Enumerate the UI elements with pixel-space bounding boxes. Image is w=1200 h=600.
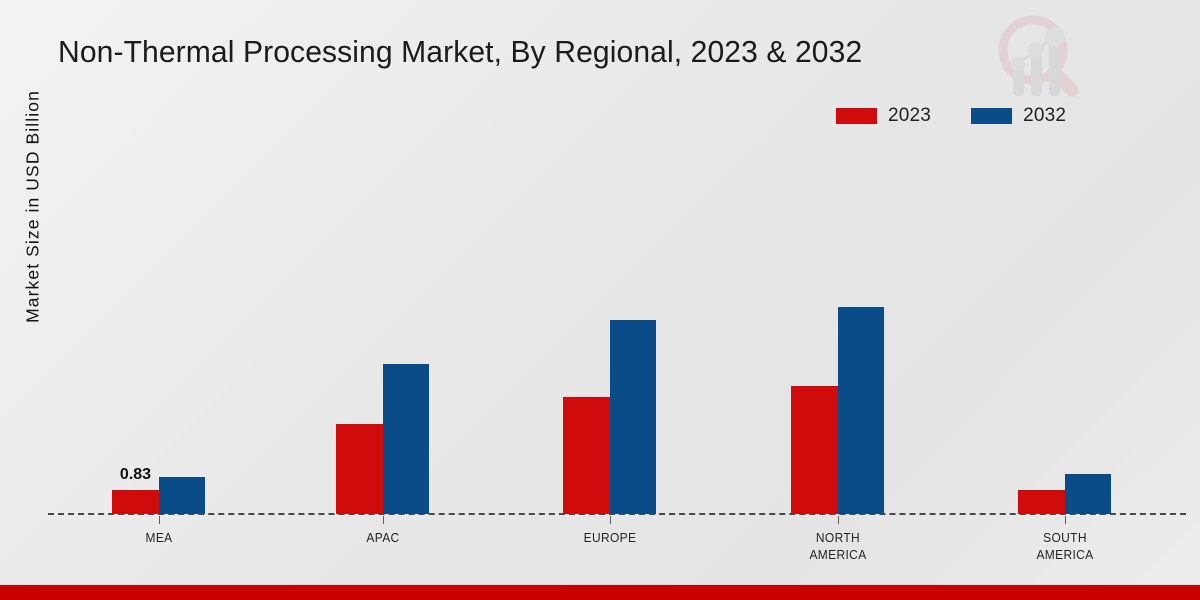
bar-europe-2023[interactable] xyxy=(563,397,610,514)
x-axis-tick xyxy=(1065,516,1066,524)
x-axis-label-line: NORTH xyxy=(764,529,911,546)
bar-south-america-2032[interactable] xyxy=(1065,474,1111,514)
x-axis-tick xyxy=(610,516,611,524)
x-axis-label-line: AMERICA xyxy=(764,546,911,563)
x-axis-label-north-america: NORTHAMERICA xyxy=(764,529,911,563)
bar-mea-2032[interactable] xyxy=(159,477,205,514)
bar-south-america-2023[interactable] xyxy=(1018,490,1065,514)
x-axis-label-mea: MEA xyxy=(85,529,232,546)
bar-mea-2023[interactable] xyxy=(112,490,159,514)
bar-apac-2032[interactable] xyxy=(383,364,429,514)
bar-north-america-2023[interactable] xyxy=(791,386,838,514)
x-axis-tick xyxy=(159,516,160,524)
footer-accent-band xyxy=(0,585,1200,600)
bar-apac-2023[interactable] xyxy=(336,424,383,514)
x-axis-label-line: MEA xyxy=(85,529,232,546)
bar-europe-2032[interactable] xyxy=(610,320,656,514)
bar-value-label: 0.83 xyxy=(104,466,167,484)
x-axis-label-line: AMERICA xyxy=(991,546,1138,563)
x-axis-label-europe: EUROPE xyxy=(536,529,683,546)
x-axis-label-line: EUROPE xyxy=(536,529,683,546)
x-axis-tick xyxy=(383,516,384,524)
x-axis-label-apac: APAC xyxy=(309,529,456,546)
x-axis-label-line: SOUTH xyxy=(991,529,1138,546)
x-axis-label-line: APAC xyxy=(309,529,456,546)
x-axis-label-south-america: SOUTHAMERICA xyxy=(991,529,1138,563)
bar-north-america-2032[interactable] xyxy=(838,307,884,514)
plot-area: 0.83 MEAAPACEUROPENORTHAMERICASOUTHAMERI… xyxy=(0,0,1200,600)
x-axis-tick xyxy=(838,516,839,524)
